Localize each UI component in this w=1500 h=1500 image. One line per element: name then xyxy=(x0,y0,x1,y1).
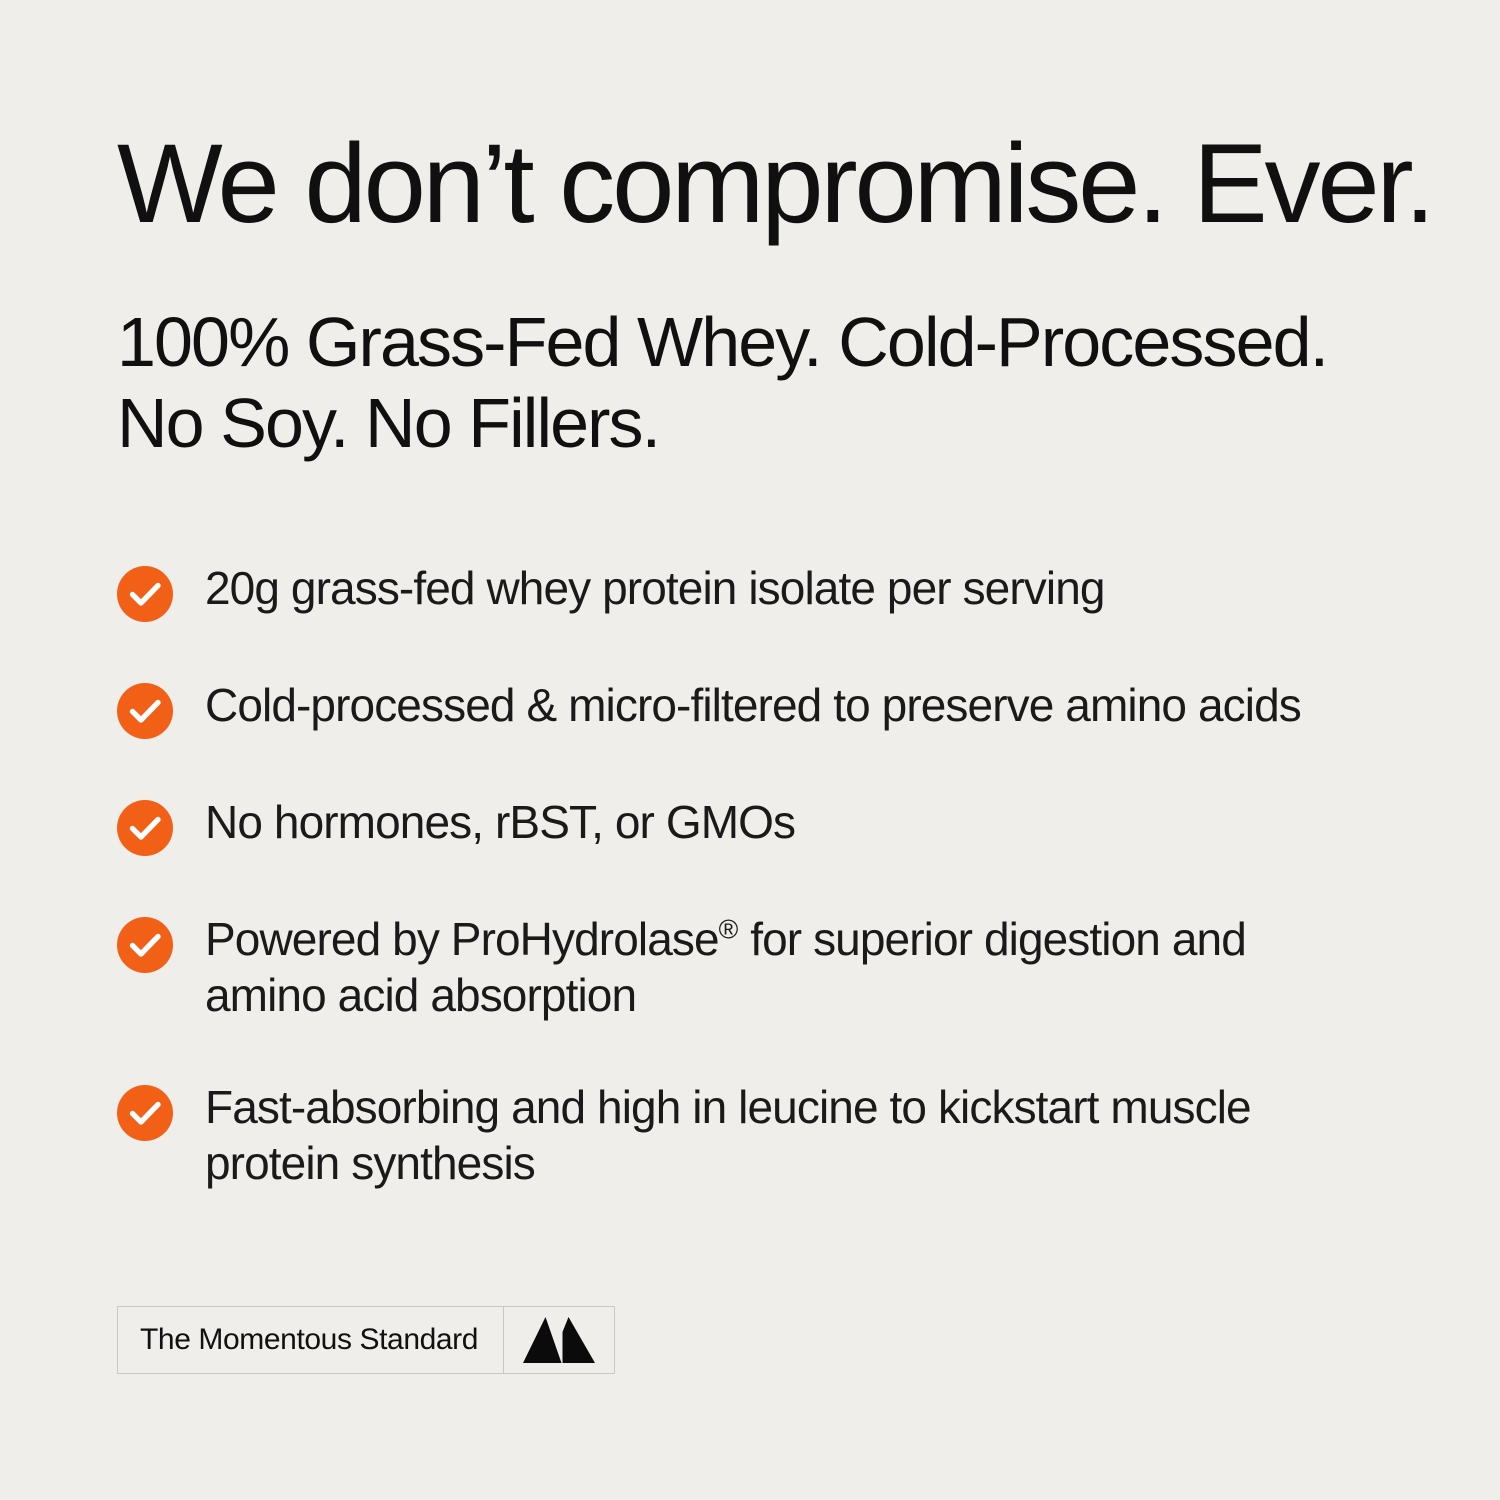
list-item: 20g grass-fed whey protein isolate per s… xyxy=(117,560,1407,622)
check-circle-icon xyxy=(117,566,173,622)
check-circle-icon xyxy=(117,683,173,739)
page-title: We don’t compromise. Ever. xyxy=(117,128,1407,240)
momentous-mountain-logo xyxy=(504,1307,614,1373)
badge-label: The Momentous Standard xyxy=(118,1307,503,1373)
feature-text: Fast-absorbing and high in leucine to ki… xyxy=(205,1079,1325,1191)
promo-panel: We don’t compromise. Ever. 100% Grass-Fe… xyxy=(0,0,1500,1500)
feature-text-lead: Powered by ProHydrolase xyxy=(205,913,719,965)
feature-text: Powered by ProHydrolase® for superior di… xyxy=(205,911,1325,1023)
feature-list: 20g grass-fed whey protein isolate per s… xyxy=(117,560,1407,1190)
check-circle-icon xyxy=(117,1085,173,1141)
list-item: No hormones, rBST, or GMOs xyxy=(117,794,1407,856)
feature-text: 20g grass-fed whey protein isolate per s… xyxy=(205,560,1105,616)
feature-text: No hormones, rBST, or GMOs xyxy=(205,794,795,850)
check-circle-icon xyxy=(117,800,173,856)
page-subtitle: 100% Grass-Fed Whey. Cold-Processed. No … xyxy=(117,302,1367,464)
feature-text: Cold-processed & micro-filtered to prese… xyxy=(205,677,1301,733)
check-circle-icon xyxy=(117,917,173,973)
list-item: Powered by ProHydrolase® for superior di… xyxy=(117,911,1407,1023)
list-item: Fast-absorbing and high in leucine to ki… xyxy=(117,1079,1407,1191)
content-column: We don’t compromise. Ever. 100% Grass-Fe… xyxy=(117,128,1407,1191)
momentous-standard-badge: The Momentous Standard xyxy=(117,1306,615,1374)
list-item: Cold-processed & micro-filtered to prese… xyxy=(117,677,1407,739)
registered-trademark-mark: ® xyxy=(719,915,739,945)
